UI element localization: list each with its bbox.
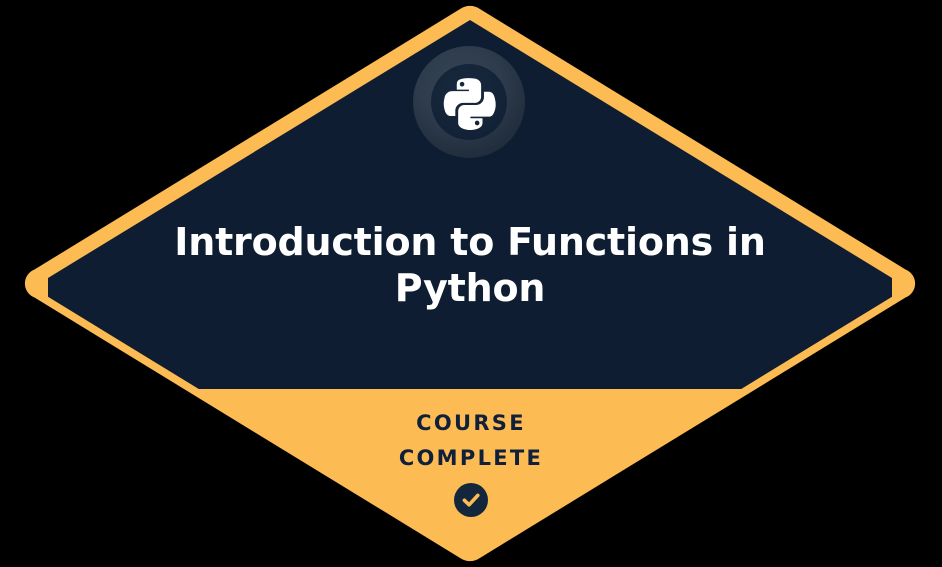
status-block: COURSE COMPLETE — [271, 406, 671, 517]
status-label-line-1: COURSE — [271, 406, 671, 441]
check-circle-icon — [454, 483, 488, 517]
course-title: Introduction to Functions in Python — [160, 219, 780, 311]
python-logo-icon — [441, 74, 497, 130]
course-completion-badge: Introduction to Functions in Python COUR… — [0, 0, 942, 567]
status-check-badge — [454, 483, 488, 517]
status-label-line-2: COMPLETE — [271, 441, 671, 476]
title-block: Introduction to Functions in Python — [160, 219, 780, 311]
python-emblem — [413, 46, 525, 158]
